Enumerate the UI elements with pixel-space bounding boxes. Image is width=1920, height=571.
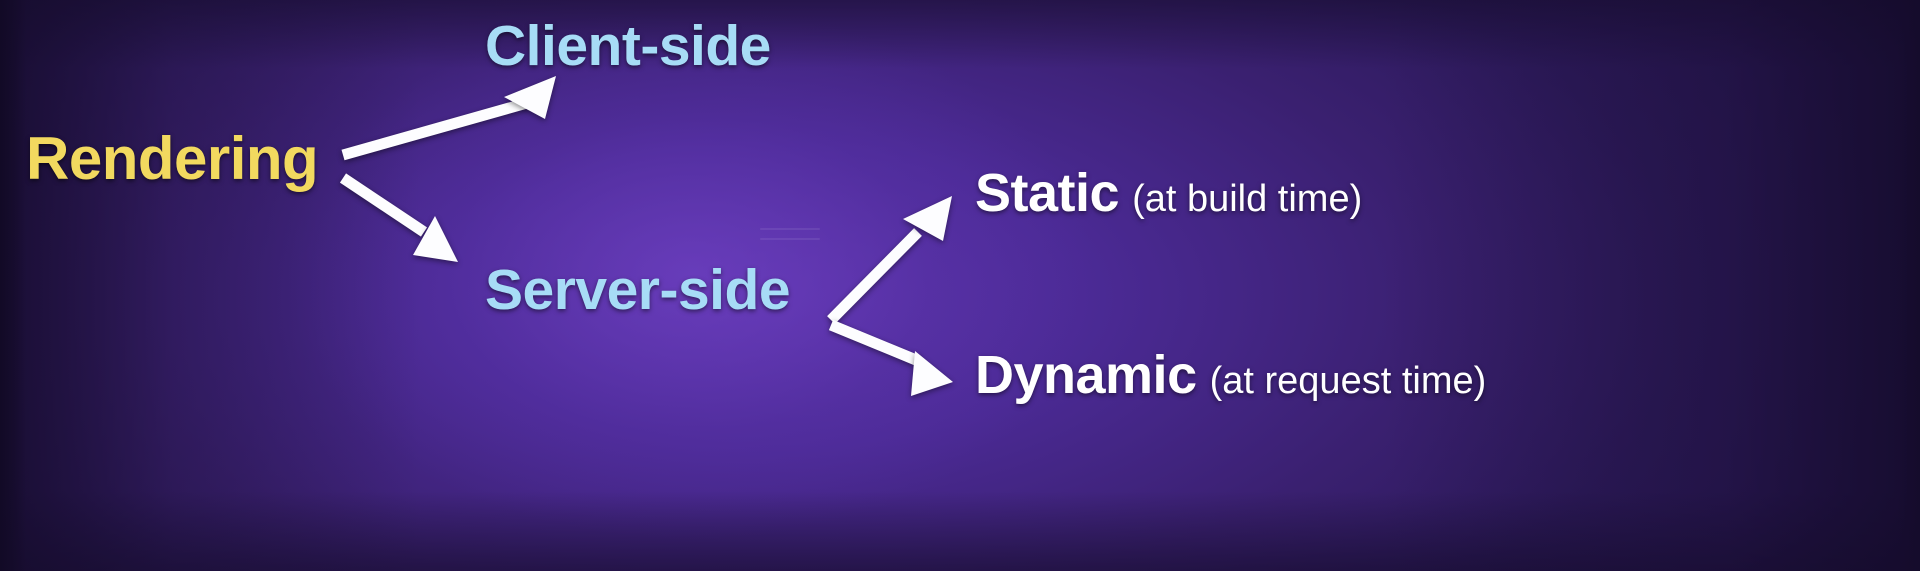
node-static[interactable]: Static(at build time) xyxy=(975,166,1362,220)
node-static-label: Static xyxy=(975,163,1119,223)
faint-texture-marks xyxy=(760,228,820,254)
diagram-canvas: Rendering Client-side Server-side Static… xyxy=(0,0,1920,571)
background-right-edge xyxy=(1898,0,1920,571)
node-dynamic-note: (at request time) xyxy=(1210,360,1487,402)
node-dynamic[interactable]: Dynamic(at request time) xyxy=(975,348,1486,402)
background-left-edge xyxy=(0,0,26,571)
node-dynamic-label: Dynamic xyxy=(975,345,1197,405)
node-client-side[interactable]: Client-side xyxy=(485,18,771,75)
node-rendering[interactable]: Rendering xyxy=(26,129,318,189)
node-static-note: (at build time) xyxy=(1132,178,1362,220)
background-vignette xyxy=(0,0,1920,571)
node-server-side[interactable]: Server-side xyxy=(485,262,790,319)
